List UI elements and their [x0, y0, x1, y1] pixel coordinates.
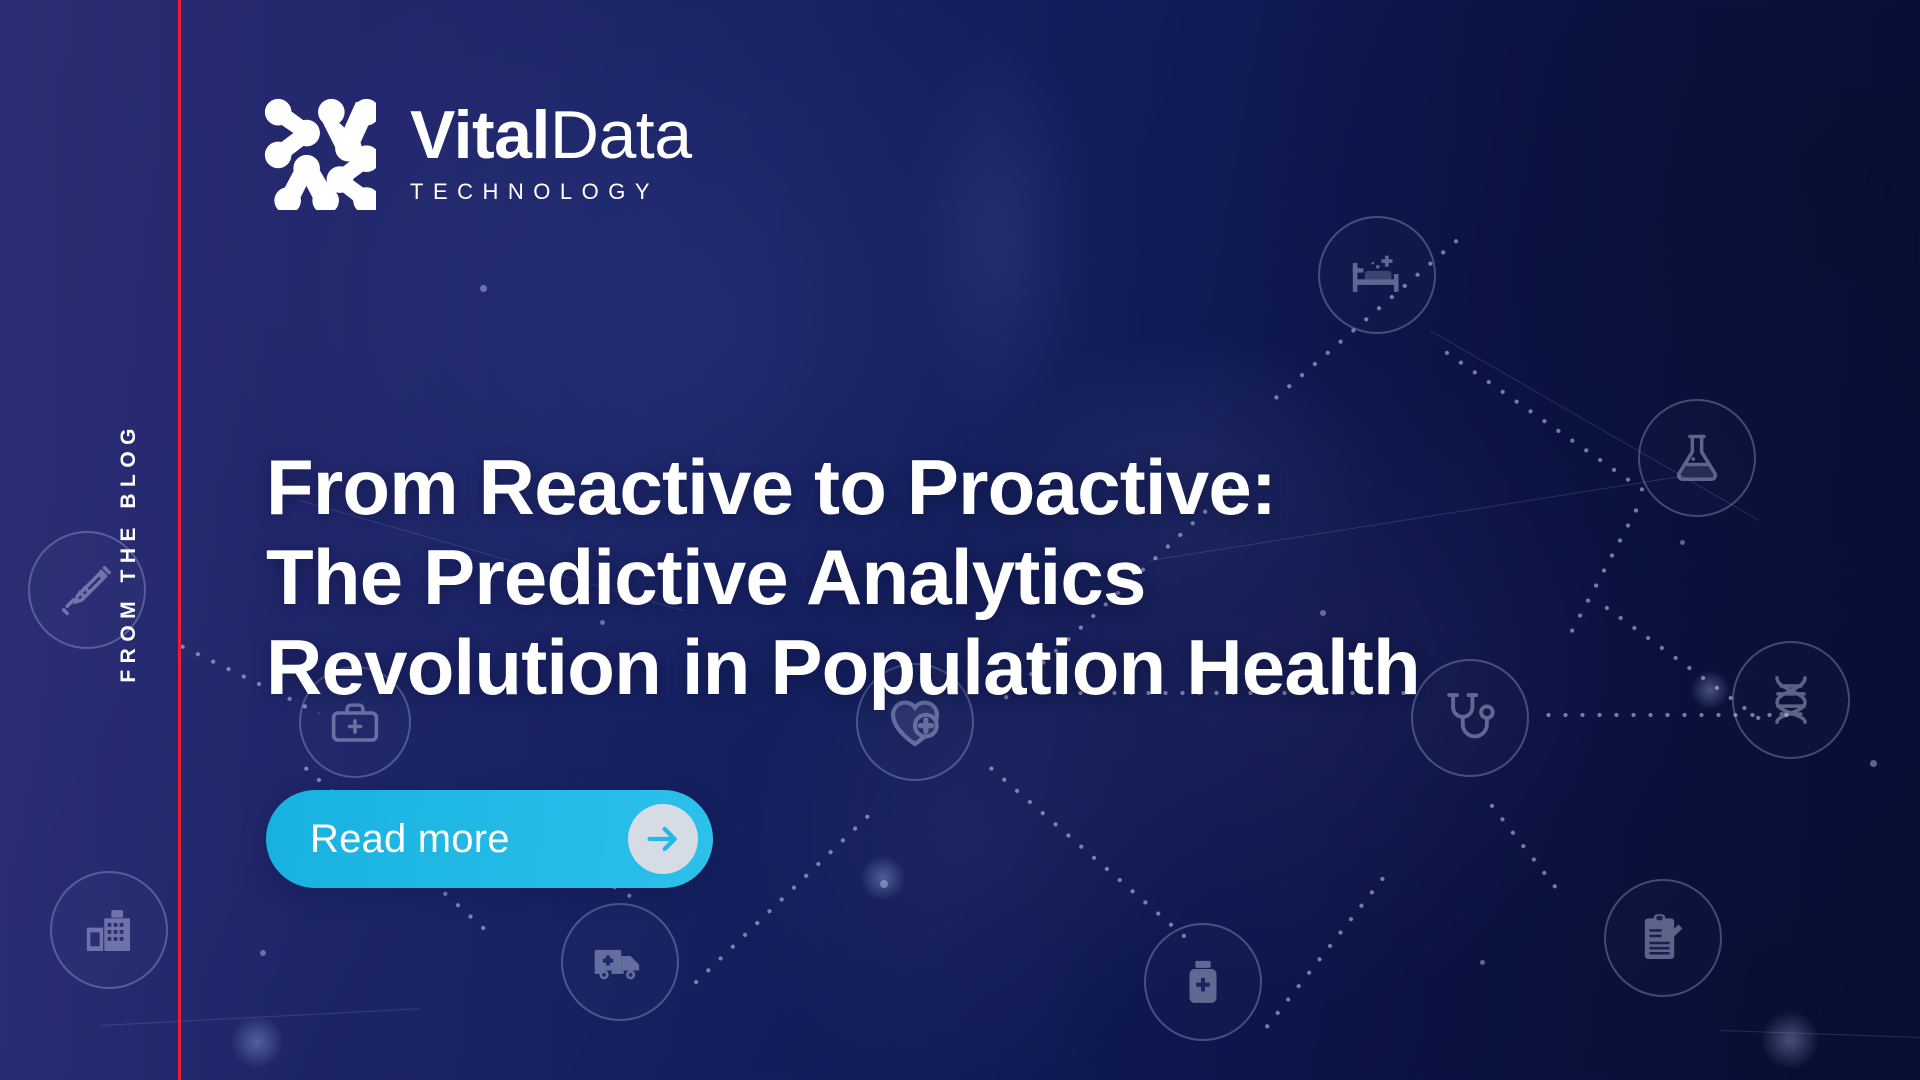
brand-wordmark-bold: Vital — [410, 97, 550, 173]
blog-kicker: FROM THE BLOG — [107, 352, 151, 752]
blog-kicker-label: FROM THE BLOG — [117, 422, 141, 683]
brand-wordmark-light: Data — [550, 97, 692, 173]
headline-line-1: From Reactive to Proactive: — [266, 442, 1606, 532]
arrow-right-icon — [628, 804, 698, 874]
network-nodes-logo-icon — [262, 96, 376, 210]
brand-logo[interactable]: VitalData TECHNOLOGY — [262, 96, 692, 210]
red-accent-rule — [178, 0, 181, 1080]
read-more-button[interactable]: Read more — [266, 790, 713, 888]
headline-line-2: The Predictive Analytics — [266, 532, 1606, 622]
brand-tagline: TECHNOLOGY — [410, 179, 692, 205]
brand-wordmark: VitalData — [410, 102, 692, 169]
headline-line-3: Revolution in Population Health — [266, 622, 1606, 712]
read-more-label: Read more — [310, 817, 510, 862]
brand-wordmark-block: VitalData TECHNOLOGY — [410, 96, 692, 205]
page-title: From Reactive to Proactive: The Predicti… — [266, 442, 1606, 712]
blog-hero-banner: FROM THE BLOG — [0, 0, 1920, 1080]
